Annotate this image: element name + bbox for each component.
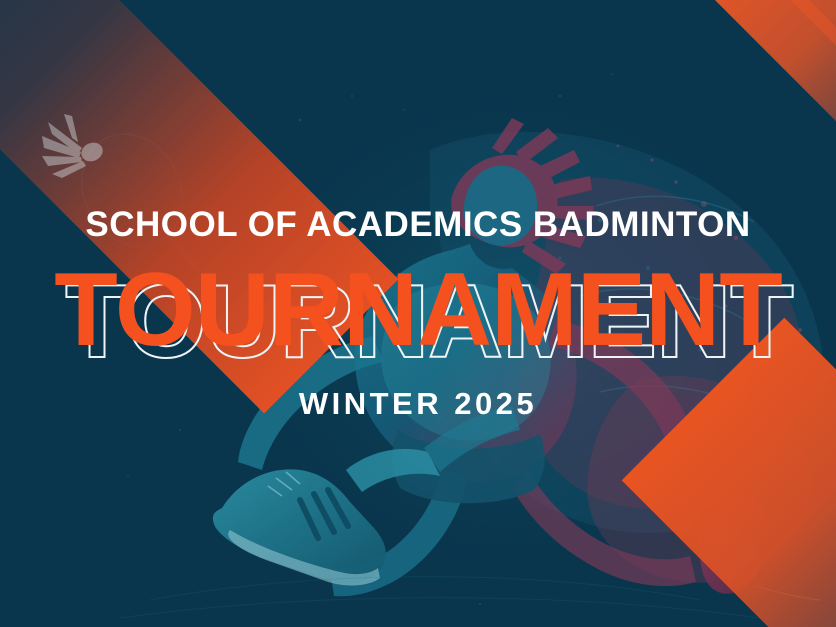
text-block: SCHOOL OF ACADEMICS BADMINTON TOURNAMENT… xyxy=(0,0,836,627)
season-label: WINTER 2025 xyxy=(0,388,836,419)
tournament-title-wrapper: TOURNAMENT TOURNAMENT xyxy=(0,258,836,368)
poster-canvas: SCHOOL OF ACADEMICS BADMINTON TOURNAMENT… xyxy=(0,0,836,627)
tournament-title: TOURNAMENT xyxy=(0,258,836,362)
page-title: SCHOOL OF ACADEMICS BADMINTON xyxy=(0,207,836,242)
